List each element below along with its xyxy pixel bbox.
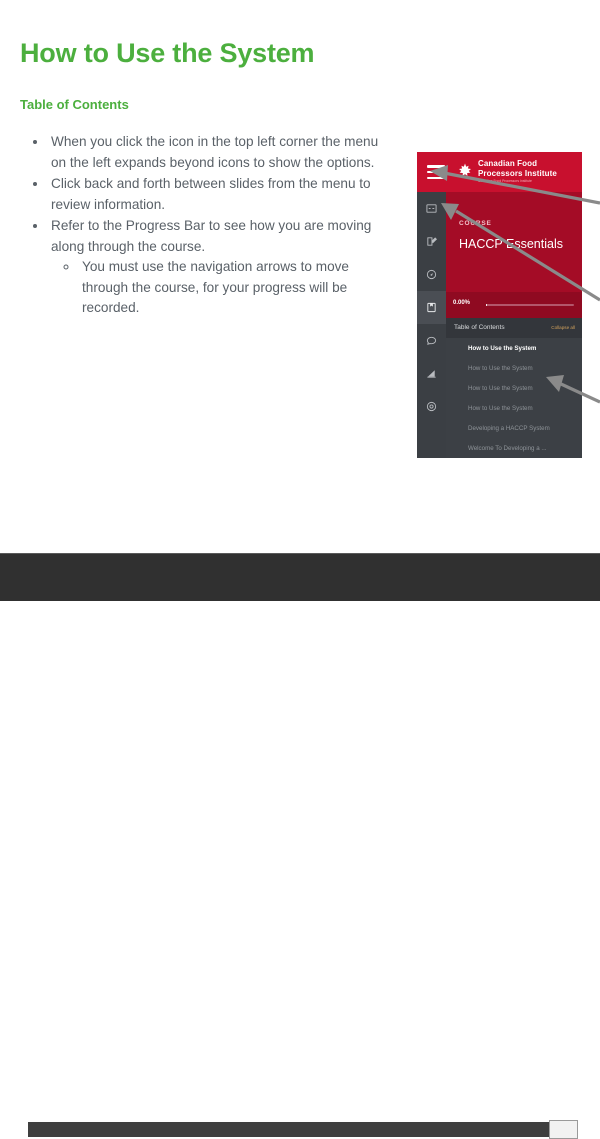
player-control-bar xyxy=(0,553,600,601)
toc-header-label: Table of Contents xyxy=(454,324,505,331)
brand-tagline: Canadian Food Processors Institute xyxy=(478,179,532,183)
toc-list-item: How to Use the System xyxy=(446,398,582,418)
list-item: You must use the navigation arrows to mo… xyxy=(79,257,395,319)
rail-item-info xyxy=(417,390,446,423)
chart-icon xyxy=(426,368,437,379)
toc-list-item: Welcome To Developing a ... xyxy=(446,438,582,458)
bullet-subtext: You must use the navigation arrows to mo… xyxy=(82,259,349,315)
rail-item-edit xyxy=(417,225,446,258)
rail-item-book xyxy=(417,291,446,324)
compass-icon xyxy=(426,269,437,280)
progress-fill xyxy=(486,304,487,306)
brand-name: Canadian Food Processors Institute xyxy=(478,159,557,178)
toc-list: How to Use the System How to Use the Sys… xyxy=(446,338,582,458)
rail-item-chart xyxy=(417,357,446,390)
rail-item-compass xyxy=(417,258,446,291)
progress-percent-label: 0.00% xyxy=(453,300,470,306)
toc-list-item: How to Use the System xyxy=(446,378,582,398)
bullet-text: When you click the icon in the top left … xyxy=(51,134,378,170)
bullet-text: Refer to the Progress Bar to see how you… xyxy=(51,218,371,254)
slides-icon xyxy=(426,203,437,214)
toc-header-bar: Table of Contents Collapse all xyxy=(446,318,582,338)
slide-canvas: How to Use the System Table of Contents … xyxy=(0,0,600,552)
toc-list-item: How to Use the System xyxy=(446,338,582,358)
hamburger-icon xyxy=(427,165,445,179)
course-title: HACCP Essentials xyxy=(459,237,563,251)
list-item: Click back and forth between slides from… xyxy=(48,174,395,215)
info-icon xyxy=(426,401,437,412)
progress-track xyxy=(486,304,574,306)
icon-rail xyxy=(417,192,446,458)
bullet-list-level1: When you click the icon in the top left … xyxy=(20,132,395,319)
seek-bar-track[interactable] xyxy=(28,1122,578,1137)
rail-item-slides xyxy=(417,192,446,225)
brand-logo: Canadian Food Processors Institute Canad… xyxy=(456,159,576,187)
course-banner: COURSE HACCP Essentials xyxy=(446,192,582,292)
course-kicker-label: COURSE xyxy=(459,220,492,227)
section-subheading: Table of Contents xyxy=(20,97,129,112)
list-item: When you click the icon in the top left … xyxy=(48,132,395,173)
page-title: How to Use the System xyxy=(20,38,314,69)
progress-bar-row: 0.00% xyxy=(446,292,582,318)
brand-line-1: Canadian Food xyxy=(478,159,557,169)
toc-list-item: Developing a HACCP System xyxy=(446,418,582,438)
bullet-list-level2: You must use the navigation arrows to mo… xyxy=(51,257,395,319)
list-item: Refer to the Progress Bar to see how you… xyxy=(48,216,395,319)
maple-leaf-icon xyxy=(456,162,474,180)
chat-icon xyxy=(426,335,437,346)
edit-icon xyxy=(426,236,437,247)
seek-bar-handle[interactable] xyxy=(549,1120,578,1139)
screenshot-header-bar: Canadian Food Processors Institute Canad… xyxy=(417,152,582,192)
brand-line-2: Processors Institute xyxy=(478,169,557,179)
collapse-all-link: Collapse all xyxy=(551,325,575,330)
bullet-list-container: When you click the icon in the top left … xyxy=(20,132,395,320)
embedded-screenshot-image: Canadian Food Processors Institute Canad… xyxy=(417,152,582,458)
rail-item-chat xyxy=(417,324,446,357)
toc-list-item: How to Use the System xyxy=(446,358,582,378)
book-icon xyxy=(426,302,437,313)
bullet-text: Click back and forth between slides from… xyxy=(51,176,371,212)
